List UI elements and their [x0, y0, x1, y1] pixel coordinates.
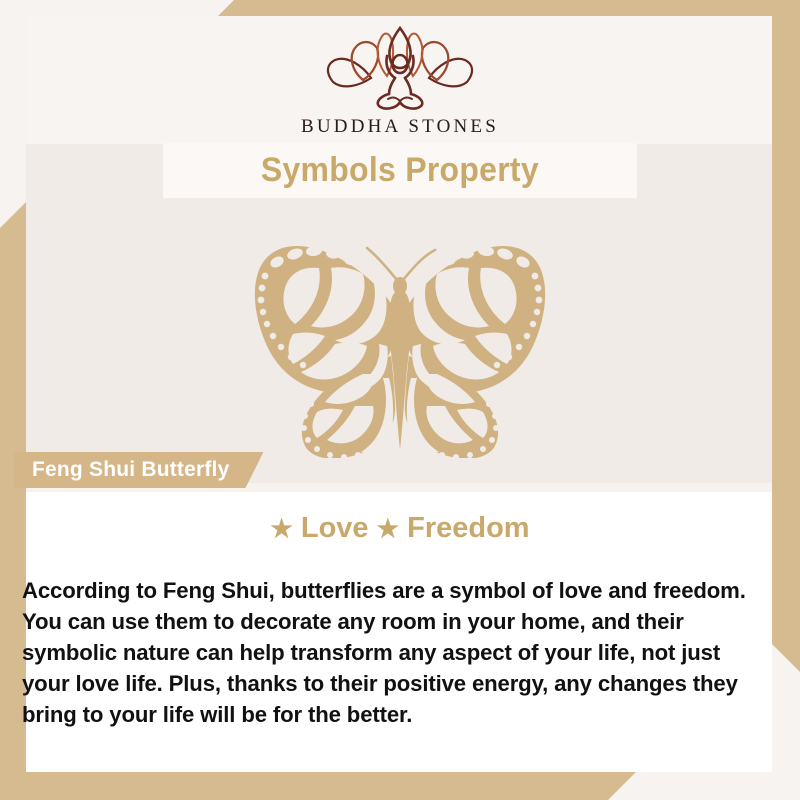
keywords-line: ★ Love ★ Freedom [0, 512, 800, 545]
frame-band-top [218, 0, 800, 16]
frame-band-bottom [0, 772, 636, 800]
butterfly-illustration [215, 228, 585, 458]
description-text: According to Feng Shui, butterflies are … [22, 575, 771, 730]
keyword-freedom: Freedom [407, 512, 529, 544]
ribbon-label: Feng Shui Butterfly [32, 458, 229, 482]
butterfly-icon [215, 228, 585, 458]
star-icon-middle: ★ [377, 515, 399, 543]
brand-logo: BUDDHA STONES [0, 22, 800, 138]
star-icon-left: ★ [270, 515, 292, 543]
promo-card: BUDDHA STONES Symbols Property [0, 0, 800, 800]
page-title: Symbols Property [261, 151, 539, 190]
brand-name: BUDDHA STONES [0, 116, 800, 138]
keyword-love: Love [301, 512, 369, 544]
lotus-meditation-icon [315, 22, 485, 112]
feng-shui-ribbon: Feng Shui Butterfly [14, 452, 263, 488]
title-banner: Symbols Property [163, 143, 637, 198]
